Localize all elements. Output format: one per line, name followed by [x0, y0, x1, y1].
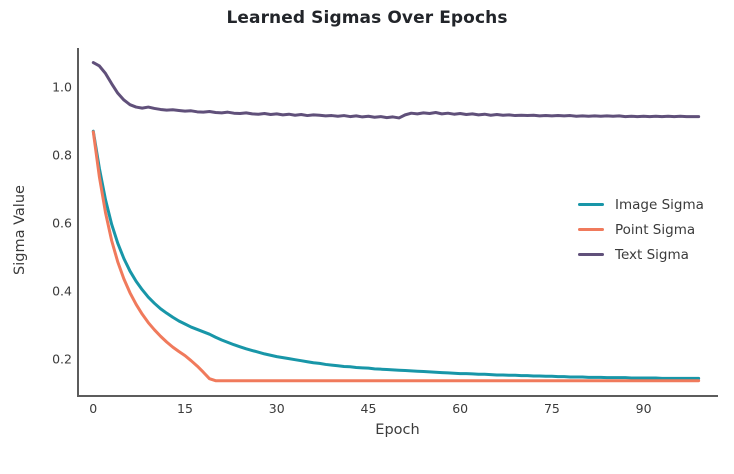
legend-item[interactable]: Text Sigma	[578, 242, 728, 267]
legend-label: Point Sigma	[615, 222, 695, 238]
x-tick-label: 15	[165, 401, 205, 416]
x-tick-label: 45	[348, 401, 388, 416]
x-tick-label: 0	[73, 401, 113, 416]
chart-title: Learned Sigmas Over Epochs	[0, 8, 734, 28]
legend-swatch-icon	[578, 228, 604, 231]
legend-swatch-icon	[578, 253, 604, 256]
y-tick-label: 1.0	[34, 80, 72, 95]
legend-label: Image Sigma	[615, 197, 704, 213]
legend-label: Text Sigma	[615, 247, 689, 263]
legend-item[interactable]: Point Sigma	[578, 217, 728, 242]
y-axis-tick-labels: 0.20.40.60.81.0	[28, 0, 72, 474]
y-axis-label: Sigma Value	[12, 150, 28, 310]
y-tick-label: 0.8	[34, 147, 72, 162]
x-tick-label: 75	[532, 401, 572, 416]
legend-item[interactable]: Image Sigma	[578, 192, 728, 217]
y-tick-label: 0.6	[34, 215, 72, 230]
x-tick-label: 60	[440, 401, 480, 416]
legend-swatch-icon	[578, 203, 604, 206]
y-tick-label: 0.2	[34, 351, 72, 366]
y-tick-label: 0.4	[34, 283, 72, 298]
series-line	[93, 63, 698, 118]
x-axis-label: Epoch	[77, 422, 718, 438]
x-tick-label: 90	[624, 401, 664, 416]
chart-legend: Image SigmaPoint SigmaText Sigma	[578, 192, 728, 267]
chart-figure: Learned Sigmas Over Epochs 0.20.40.60.81…	[0, 0, 734, 474]
x-tick-label: 30	[257, 401, 297, 416]
